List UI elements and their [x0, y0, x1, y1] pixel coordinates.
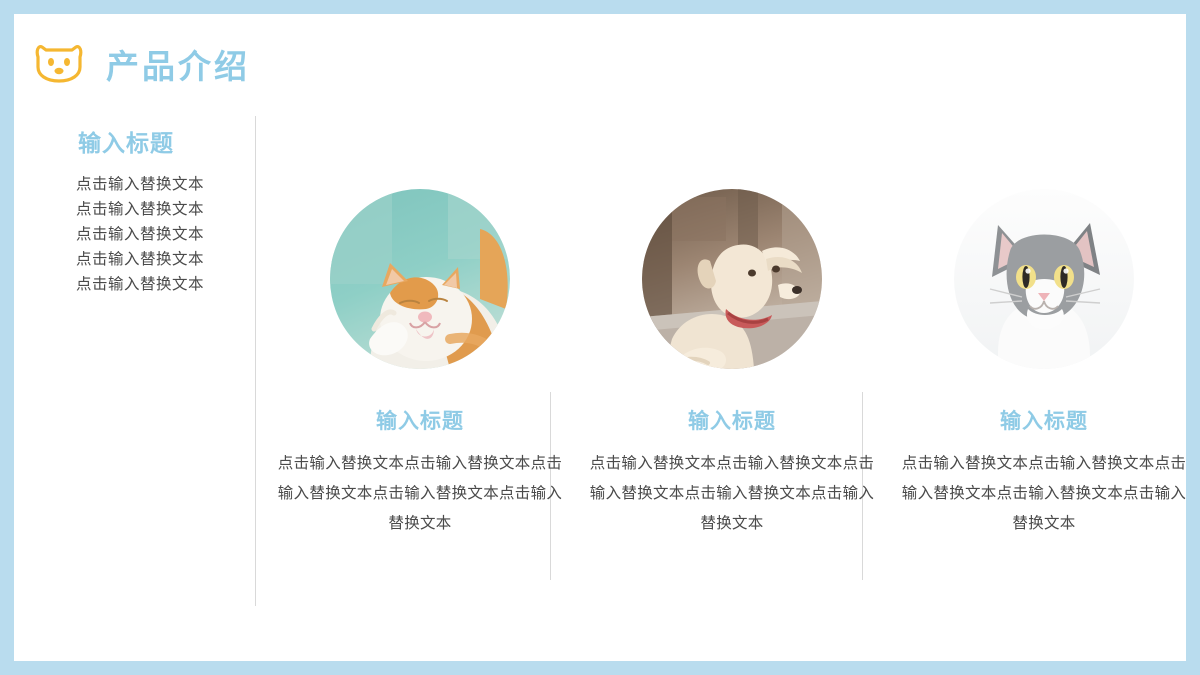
left-column-line: 点击输入替换文本 — [76, 247, 256, 272]
left-column: 输入标题 点击输入替换文本 点击输入替换文本 点击输入替换文本 点击输入替换文本… — [76, 124, 256, 297]
card-body: 点击输入替换文本点击输入替换文本点击输入替换文本点击输入替换文本点击输入替换文本 — [894, 449, 1194, 539]
orange-white-cat-photo — [330, 189, 510, 369]
left-column-title: 输入标题 — [78, 124, 256, 158]
card-item: 输入标题 点击输入替换文本点击输入替换文本点击输入替换文本点击输入替换文本点击输… — [270, 189, 570, 539]
page-title: 产品介绍 — [106, 40, 250, 88]
left-column-line: 点击输入替换文本 — [76, 272, 256, 297]
left-column-line: 点击输入替换文本 — [76, 222, 256, 247]
slide-root: 产品介绍 输入标题 点击输入替换文本 点击输入替换文本 点击输入替换文本 点击输… — [0, 0, 1200, 675]
left-column-line: 点击输入替换文本 — [76, 172, 256, 197]
card-title: 输入标题 — [894, 405, 1194, 435]
labrador-dog-photo — [642, 189, 822, 369]
slide-header: 产品介绍 — [14, 14, 1186, 110]
card-item: 输入标题 点击输入替换文本点击输入替换文本点击输入替换文本点击输入替换文本点击输… — [582, 189, 882, 539]
slide-content-card: 产品介绍 输入标题 点击输入替换文本 点击输入替换文本 点击输入替换文本 点击输… — [14, 14, 1186, 661]
dog-head-logo-icon — [32, 33, 86, 87]
left-column-line: 点击输入替换文本 — [76, 197, 256, 222]
left-column-lines: 点击输入替换文本 点击输入替换文本 点击输入替换文本 点击输入替换文本 点击输入… — [76, 172, 256, 297]
card-title: 输入标题 — [270, 405, 570, 435]
card-title: 输入标题 — [582, 405, 882, 435]
card-item: 输入标题 点击输入替换文本点击输入替换文本点击输入替换文本点击输入替换文本点击输… — [894, 189, 1194, 539]
cards-row: 输入标题 点击输入替换文本点击输入替换文本点击输入替换文本点击输入替换文本点击输… — [270, 189, 1175, 589]
grey-white-cat-photo — [954, 189, 1134, 369]
card-body: 点击输入替换文本点击输入替换文本点击输入替换文本点击输入替换文本点击输入替换文本 — [270, 449, 570, 539]
card-body: 点击输入替换文本点击输入替换文本点击输入替换文本点击输入替换文本点击输入替换文本 — [582, 449, 882, 539]
